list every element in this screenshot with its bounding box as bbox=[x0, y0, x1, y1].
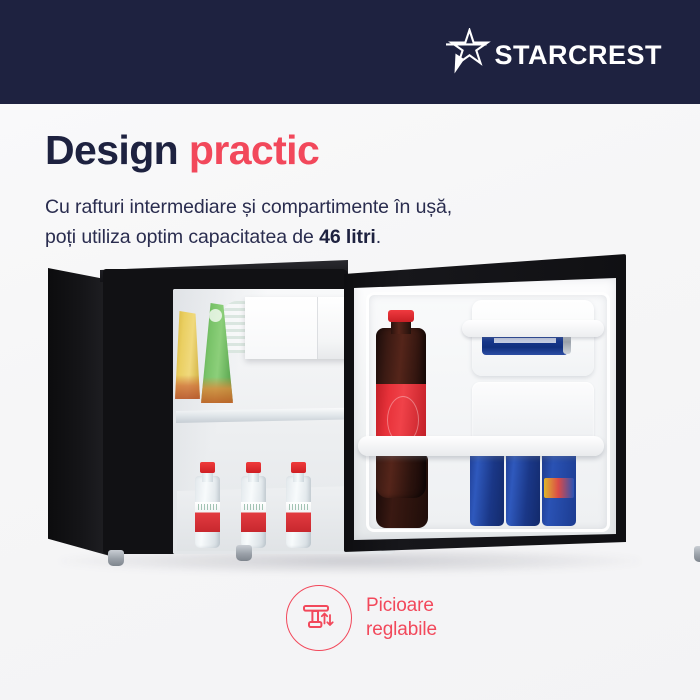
door-rail-bottom bbox=[358, 436, 604, 456]
promo-page: STARCREST Design practic Cu rafturi inte… bbox=[0, 0, 700, 700]
fridge-door bbox=[344, 254, 626, 554]
headline-dark: Design bbox=[45, 127, 178, 173]
subtitle-line-2-prefix: poți utiliza optim capacitatea de bbox=[45, 226, 319, 248]
subtitle-line-2-suffix: . bbox=[376, 226, 381, 248]
soda-can bbox=[470, 450, 504, 526]
page-header: STARCREST bbox=[0, 0, 700, 104]
product-image bbox=[0, 250, 700, 580]
cabinet-side-panel bbox=[48, 268, 110, 556]
capacity-value: 46 litri bbox=[319, 226, 376, 248]
adjustable-foot bbox=[694, 546, 700, 562]
star-icon bbox=[442, 28, 494, 76]
water-bottle bbox=[195, 462, 220, 548]
bottle-label bbox=[286, 502, 311, 532]
cabinet-frame bbox=[103, 269, 348, 554]
bottle-cap bbox=[291, 462, 306, 473]
cola-bottle bbox=[376, 310, 426, 498]
feature-label: Picioare reglabile bbox=[366, 594, 437, 643]
adjustable-feet-icon bbox=[300, 599, 338, 637]
soda-can bbox=[542, 450, 576, 526]
soda-can bbox=[506, 450, 540, 526]
bottle-label bbox=[195, 502, 220, 532]
water-bottle bbox=[286, 462, 311, 548]
cola-cap bbox=[388, 310, 414, 322]
bottle-cap bbox=[246, 462, 261, 473]
feature-badge: Picioare reglabile bbox=[286, 585, 437, 651]
page-title: Design practic bbox=[45, 128, 319, 172]
bottle-cap bbox=[200, 462, 215, 473]
brand-name: STARCREST bbox=[494, 42, 662, 69]
freezer-door bbox=[245, 297, 318, 359]
door-rail-top bbox=[462, 320, 604, 337]
bottle-label bbox=[241, 502, 266, 532]
subtitle-line-1: Cu rafturi intermediare și compartimente… bbox=[45, 196, 452, 218]
water-bottle bbox=[241, 462, 266, 548]
page-subtitle: Cu rafturi intermediare și compartimente… bbox=[45, 193, 452, 252]
feature-icon-circle bbox=[286, 585, 352, 651]
adjustable-foot bbox=[236, 545, 252, 561]
headline-accent: practic bbox=[189, 127, 319, 173]
door-shelf-middle bbox=[472, 382, 594, 442]
adjustable-foot bbox=[108, 550, 124, 566]
fridge-cabinet bbox=[48, 260, 345, 556]
brand-logo: STARCREST bbox=[442, 28, 662, 76]
door-inner-panel bbox=[354, 278, 616, 540]
